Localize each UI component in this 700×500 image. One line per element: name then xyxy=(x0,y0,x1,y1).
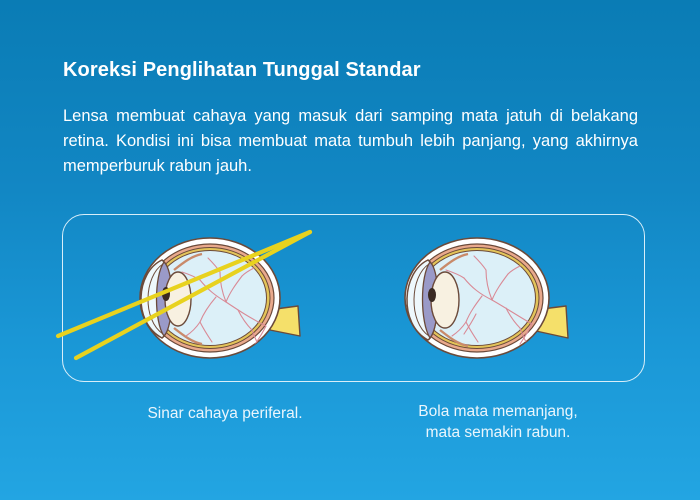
page-title: Koreksi Penglihatan Tunggal Standar xyxy=(63,59,421,82)
body-paragraph: Lensa membuat cahaya yang masuk dari sam… xyxy=(63,104,638,179)
caption-right-line-1: Bola mata memanjang, xyxy=(358,401,638,422)
left-eye-group xyxy=(140,238,300,358)
pupil-right xyxy=(428,288,436,302)
caption-right-eye: Bola mata memanjang, mata semakin rabun. xyxy=(358,401,638,443)
caption-left-eye: Sinar cahaya periferal. xyxy=(95,403,355,424)
eye-diagram-svg xyxy=(62,214,645,382)
caption-right-line-2: mata semakin rabun. xyxy=(358,422,638,443)
right-eye-group xyxy=(405,238,568,358)
slide-root: Koreksi Penglihatan Tunggal Standar Lens… xyxy=(0,0,700,500)
lens-right xyxy=(431,272,459,328)
